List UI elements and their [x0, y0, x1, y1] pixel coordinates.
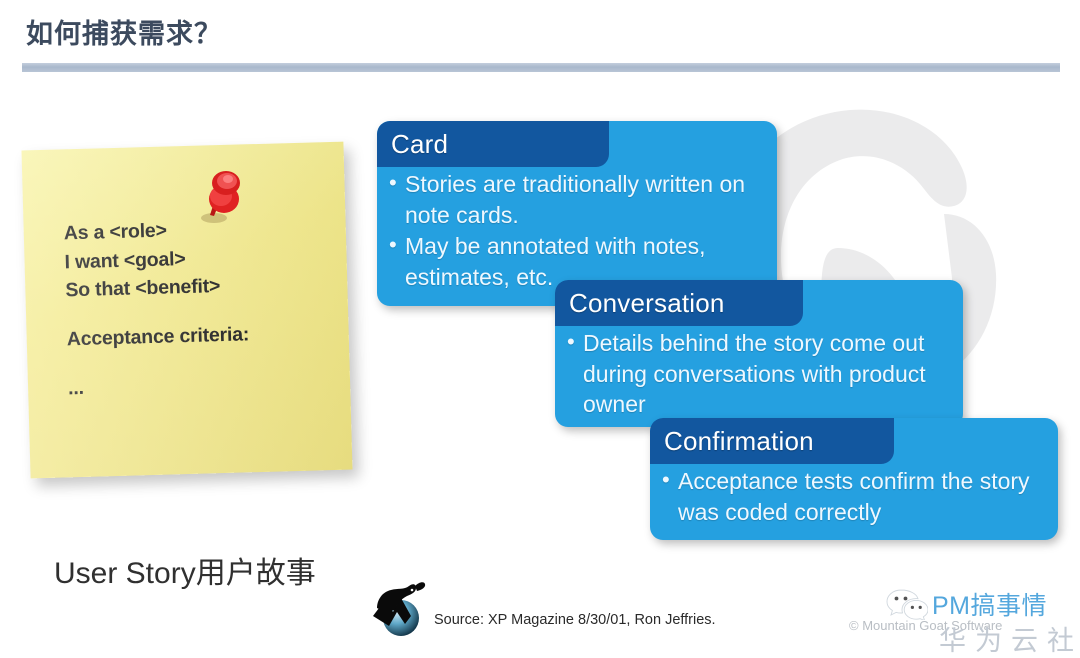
card-3c-conversation: Conversation Details behind the story co…: [555, 280, 963, 427]
sticky-note-paper: As a <role> I want <goal> So that <benef…: [21, 142, 352, 479]
card-3c-card-title: Card: [391, 129, 448, 160]
wechat-watermark-label: PM搞事情: [932, 586, 1047, 622]
pushpin-icon: [190, 166, 252, 228]
card-3c-confirmation: Confirmation Acceptance tests confirm th…: [650, 418, 1058, 540]
card-3c-conversation-bullets: Details behind the story come out during…: [565, 328, 955, 421]
wechat-icon: [886, 588, 928, 620]
acceptance-criteria-value: ...: [68, 367, 319, 403]
card-3c-card-bullets: Stories are traditionally written on not…: [387, 169, 769, 293]
sticky-note-text: As a <role> I want <goal> So that <benef…: [63, 212, 318, 402]
card-3c-conversation-header: Conversation: [555, 280, 803, 326]
card-3c-card: Card Stories are traditionally written o…: [377, 121, 777, 306]
site-watermark: 华为云社区: [939, 619, 1080, 658]
page-title: 如何捕获需求？: [26, 12, 222, 51]
list-item: Details behind the story come out during…: [565, 328, 955, 420]
card-3c-card-header: Card: [377, 121, 609, 167]
source-attribution: Source: XP Magazine 8/30/01, Ron Jeffrie…: [434, 612, 716, 628]
card-3c-conversation-title: Conversation: [569, 288, 725, 319]
list-item: Acceptance tests confirm the story was c…: [660, 466, 1050, 527]
wechat-watermark: PM搞事情: [886, 586, 1047, 622]
slide-content: As a <role> I want <goal> So that <benef…: [0, 78, 1080, 581]
card-3c-confirmation-title: Confirmation: [664, 426, 814, 457]
user-story-sticky-note: As a <role> I want <goal> So that <benef…: [18, 128, 368, 528]
user-story-caption: User Story用户故事: [54, 548, 316, 592]
list-item: Stories are traditionally written on not…: [387, 169, 769, 230]
card-3c-confirmation-bullets: Acceptance tests confirm the story was c…: [660, 466, 1050, 528]
card-3c-confirmation-header: Confirmation: [650, 418, 894, 464]
title-divider: [22, 63, 1060, 72]
mountain-goat-logo-icon: [371, 578, 427, 640]
